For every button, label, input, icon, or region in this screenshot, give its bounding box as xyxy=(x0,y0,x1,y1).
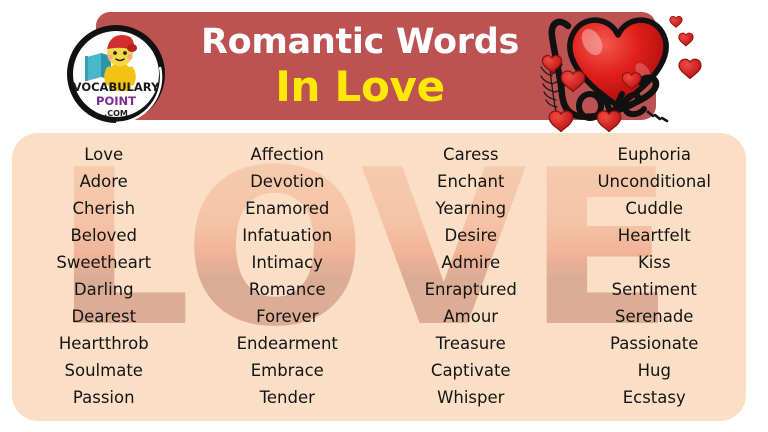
list-item: Beloved xyxy=(70,222,137,249)
list-item: Desire xyxy=(444,222,497,249)
list-item: Forever xyxy=(256,303,318,330)
list-item: Whisper xyxy=(437,384,504,411)
list-item: Tender xyxy=(260,384,315,411)
list-item: Treasure xyxy=(436,330,506,357)
list-item: Sweetheart xyxy=(56,249,151,276)
list-item: Kiss xyxy=(638,249,671,276)
svg-text:VOCABULARY: VOCABULARY xyxy=(73,80,160,94)
list-item: Hug xyxy=(638,357,671,384)
list-item: Caress xyxy=(443,141,498,168)
love-heart-illustration xyxy=(516,2,732,132)
list-item: Unconditional xyxy=(597,168,711,195)
word-column-4: Euphoria Unconditional Cuddle Heartfelt … xyxy=(563,141,747,411)
list-item: Affection xyxy=(251,141,325,168)
list-item: Serenade xyxy=(615,303,693,330)
svg-text:POINT: POINT xyxy=(96,94,136,108)
list-item: Passionate xyxy=(610,330,698,357)
word-columns: Love Adore Cherish Beloved Sweetheart Da… xyxy=(12,133,746,421)
list-item: Euphoria xyxy=(618,141,691,168)
list-item: Soulmate xyxy=(65,357,143,384)
list-item: Cherish xyxy=(72,195,135,222)
list-item: Enamored xyxy=(245,195,329,222)
romantic-words-poster: Romantic Words In Love xyxy=(0,0,768,432)
list-item: Heartfelt xyxy=(618,222,691,249)
list-item: Romance xyxy=(249,276,326,303)
list-item: Darling xyxy=(74,276,134,303)
list-item: Enraptured xyxy=(425,276,517,303)
word-column-1: Love Adore Cherish Beloved Sweetheart Da… xyxy=(12,141,196,411)
list-item: Dearest xyxy=(71,303,136,330)
list-item: Devotion xyxy=(250,168,324,195)
list-item: Yearning xyxy=(435,195,506,222)
list-item: Adore xyxy=(80,168,128,195)
list-item: Enchant xyxy=(437,168,504,195)
list-item: Infatuation xyxy=(242,222,332,249)
list-item: Love xyxy=(84,141,123,168)
list-item: Endearment xyxy=(237,330,338,357)
word-column-3: Caress Enchant Yearning Desire Admire En… xyxy=(379,141,563,411)
vocabulary-point-logo: VOCABULARY POINT .COM xyxy=(63,21,169,127)
list-item: Passion xyxy=(73,384,135,411)
word-list-panel: LOVE Love Adore Cherish Beloved Sweethea… xyxy=(12,133,746,421)
list-item: Embrace xyxy=(251,357,324,384)
list-item: Admire xyxy=(441,249,500,276)
list-item: Sentiment xyxy=(612,276,697,303)
list-item: Heartthrob xyxy=(59,330,149,357)
list-item: Ecstasy xyxy=(623,384,686,411)
svg-text:.COM: .COM xyxy=(104,109,128,118)
list-item: Cuddle xyxy=(625,195,683,222)
list-item: Captivate xyxy=(431,357,511,384)
word-column-2: Affection Devotion Enamored Infatuation … xyxy=(196,141,380,411)
list-item: Intimacy xyxy=(252,249,323,276)
list-item: Amour xyxy=(443,303,498,330)
